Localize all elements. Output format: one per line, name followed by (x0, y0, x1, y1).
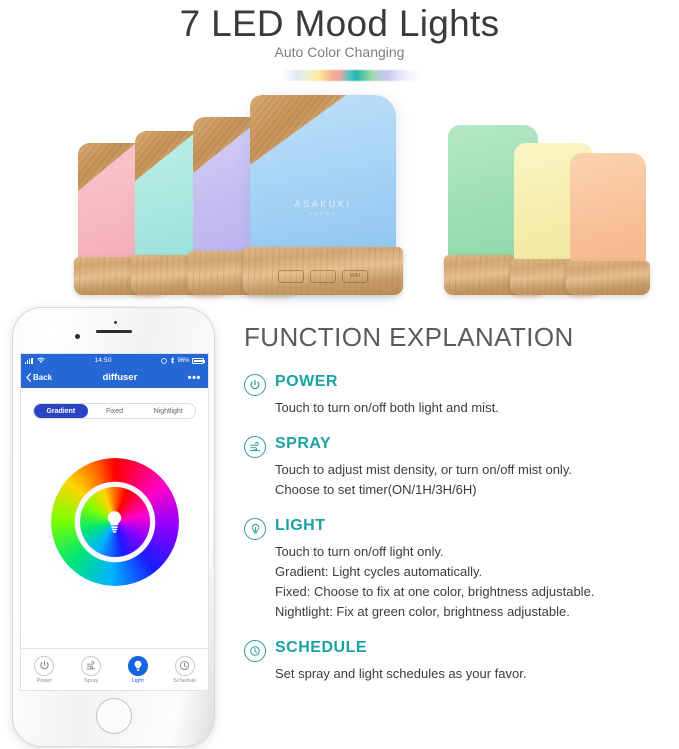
home-button[interactable] (96, 698, 132, 734)
function-schedule: SCHEDULE Set spray and light schedules a… (244, 639, 672, 684)
signal-bars-icon (25, 358, 33, 364)
hero-title-rest: LED Mood Lights (211, 3, 499, 44)
base-button-mist[interactable] (278, 270, 304, 283)
wood-cap (250, 95, 346, 165)
alarm-icon (161, 358, 167, 364)
tab-power-label: Power (37, 678, 53, 684)
wifi-icon (37, 357, 45, 364)
nav-bar: Back diffuser ••• (21, 367, 208, 388)
more-options-icon[interactable]: ••• (188, 372, 203, 384)
bulb-icon (244, 518, 266, 540)
phone-mockup: 14:50 96% Back diffuser ••• (12, 307, 215, 747)
function-line: Set spray and light schedules as your fa… (275, 664, 672, 684)
battery-percent: 96% (177, 358, 189, 364)
spray-icon (244, 436, 266, 458)
back-label: Back (33, 373, 52, 382)
brand-logo: ASAKUKI AROMA (250, 199, 396, 216)
function-line: Choose to set timer(ON/1H/3H/6H) (275, 480, 672, 500)
clock-icon (175, 656, 195, 676)
spray-icon (81, 656, 101, 676)
function-heading: SPRAY (275, 435, 672, 453)
page-root: 7 LED Mood Lights Auto Color Changing (0, 0, 679, 749)
function-line: Fixed: Choose to fix at one color, brigh… (275, 582, 672, 602)
wood-base: WiFi (243, 247, 404, 295)
color-wheel-picker[interactable] (21, 419, 208, 624)
function-heading: SCHEDULE (275, 639, 672, 657)
function-spray: SPRAY Touch to adjust mist density, or t… (244, 435, 672, 500)
status-time: 14:50 (45, 357, 162, 364)
light-mode-segmented-control[interactable]: Gradient Fixed Nightlight (33, 403, 196, 419)
diffuser-unit-blue: ASAKUKI AROMA WiFi (250, 95, 396, 295)
earpiece-speaker (96, 330, 132, 333)
proximity-sensor-icon (114, 321, 117, 324)
tab-schedule-label: Schedule (173, 678, 196, 684)
function-heading: LIGHT (275, 517, 672, 535)
phone-screen: 14:50 96% Back diffuser ••• (20, 353, 209, 691)
chevron-left-icon (26, 373, 31, 382)
base-button-wifi[interactable]: WiFi (342, 270, 368, 283)
base-button-light[interactable] (310, 270, 336, 283)
power-icon (244, 374, 266, 396)
bluetooth-icon (170, 357, 175, 364)
segment-gradient[interactable]: Gradient (34, 404, 88, 418)
bulb-icon (128, 656, 148, 676)
tab-spray[interactable]: Spray (68, 656, 115, 684)
front-camera-icon (75, 334, 80, 339)
function-line: Gradient: Light cycles automatically. (275, 562, 672, 582)
brand-sublabel: AROMA (250, 211, 396, 216)
base-control-buttons: WiFi (278, 270, 368, 283)
tab-power[interactable]: Power (21, 656, 68, 684)
color-gradient-bar (281, 70, 421, 81)
wood-cap (135, 131, 197, 181)
wood-base (566, 261, 650, 295)
function-explanation-panel: FUNCTION EXPLANATION POWER Touch to turn… (244, 322, 672, 687)
function-line: Touch to turn on/off light only. (275, 542, 672, 562)
segment-nightlight[interactable]: Nightlight (141, 404, 195, 418)
diffuser-unit-orange (570, 153, 646, 295)
center-bulb-icon (105, 510, 124, 534)
status-bar: 14:50 96% (21, 354, 208, 367)
battery-icon (192, 358, 204, 364)
wood-cap (78, 143, 136, 191)
panel-title: FUNCTION EXPLANATION (244, 322, 672, 353)
function-line: Touch to adjust mist density, or turn on… (275, 460, 672, 480)
product-lineup: ASAKUKI AROMA WiFi (0, 95, 679, 295)
page-title: 7 LED Mood Lights (0, 0, 679, 46)
tab-light[interactable]: Light (115, 656, 162, 684)
power-icon (34, 656, 54, 676)
function-light: LIGHT Touch to turn on/off light only. G… (244, 517, 672, 622)
function-line: Nightlight: Fix at green color, brightne… (275, 602, 672, 622)
function-power: POWER Touch to turn on/off both light an… (244, 373, 672, 418)
bottom-tab-bar: Power Spray (21, 648, 208, 690)
back-button[interactable]: Back (26, 373, 52, 382)
hero-count: 7 (180, 3, 201, 44)
clock-icon (244, 640, 266, 662)
tab-spray-label: Spray (84, 678, 98, 684)
hero-subtitle: Auto Color Changing (0, 44, 679, 60)
tab-schedule[interactable]: Schedule (161, 656, 208, 684)
segment-fixed[interactable]: Fixed (88, 404, 142, 418)
function-line: Touch to turn on/off both light and mist… (275, 398, 672, 418)
nav-title: diffuser (52, 372, 188, 383)
function-heading: POWER (275, 373, 672, 391)
tab-light-label: Light (132, 678, 144, 684)
